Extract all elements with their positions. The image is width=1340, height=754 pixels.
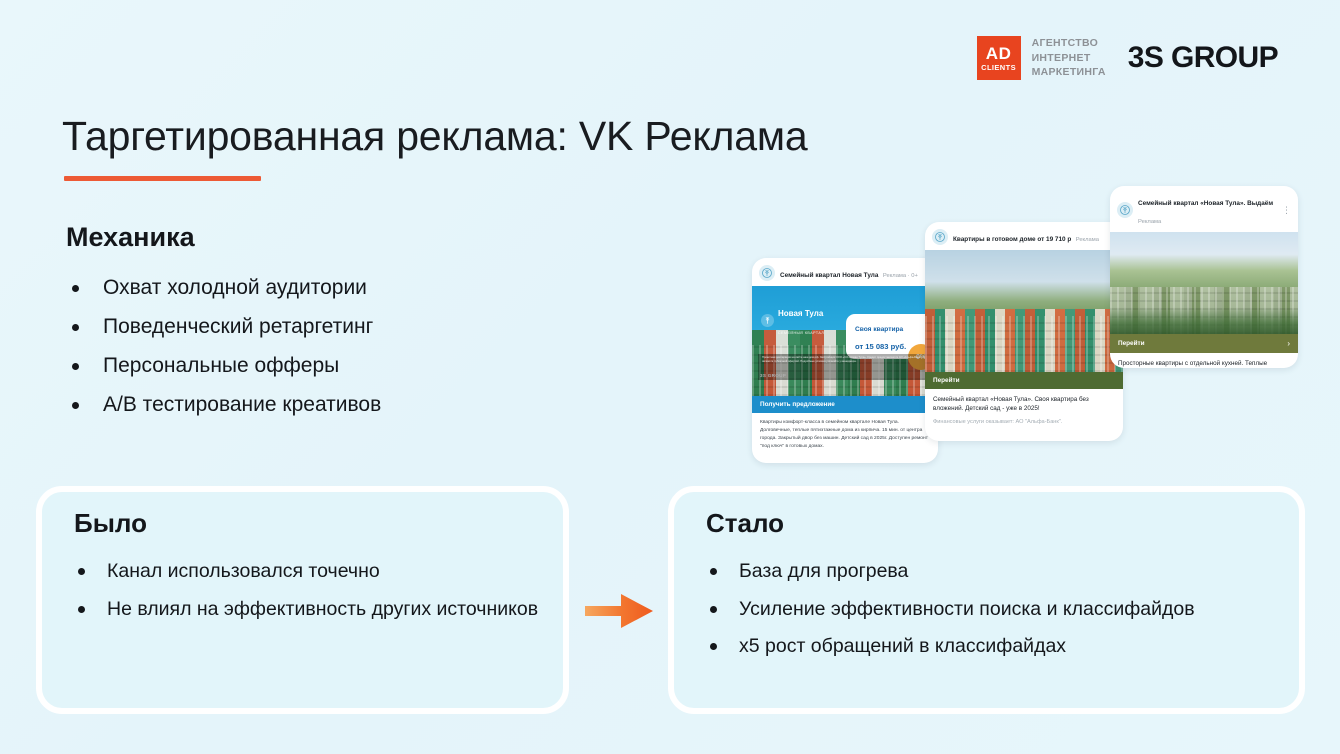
ad-card-1[interactable]: Семейный квартал Новая Тула Реклама · 0+… <box>752 258 938 463</box>
ad-card-1-brand-text: Новая Тула СЕМЕЙНЫЙ КВАРТАЛ <box>778 303 824 338</box>
bullet-dot-icon <box>710 606 717 613</box>
ad-card-1-brand: Новая Тула СЕМЕЙНЫЙ КВАРТАЛ <box>761 303 824 338</box>
tagline-line-1: АГЕНТСТВО <box>1032 36 1106 50</box>
advertiser-avatar-icon <box>932 229 948 245</box>
ad-card-1-description: Квартиры комфорт-класса в семейном кварт… <box>760 419 930 450</box>
after-card: Стало База для прогрева Усиление эффекти… <box>668 486 1305 714</box>
advertiser-avatar-icon <box>1117 202 1133 218</box>
ad-card-2-header: Квартиры в готовом доме от 19 710 р Рекл… <box>925 222 1123 250</box>
ad-card-3-header: Семейный квартал «Новая Тула». Выдаём Ре… <box>1110 186 1298 232</box>
after-heading: Стало <box>706 508 784 539</box>
mechanics-item-2: Поведенческий ретаргетинг <box>103 313 373 342</box>
tagline-line-2: ИНТЕРНЕТ <box>1032 51 1106 65</box>
adclients-tagline: АГЕНТСТВО ИНТЕРНЕТ МАРКЕТИНГА <box>1032 36 1106 79</box>
bullet-dot-icon <box>78 606 85 613</box>
list-item: Персональные офферы <box>72 352 542 381</box>
ad-card-1-header: Семейный квартал Новая Тула Реклама · 0+ <box>752 258 938 286</box>
ad-card-2-image <box>925 250 1123 372</box>
ad-card-3-body: Просторные квартиры с отдельной кухней. … <box>1110 353 1298 368</box>
before-item-2: Не влиял на эффективность других источни… <box>107 596 538 624</box>
bullet-dot-icon <box>78 568 85 575</box>
bullet-dot-icon <box>710 568 717 575</box>
after-item-3: x5 рост обращений в классифайдах <box>739 633 1066 661</box>
bullet-dot-icon <box>72 285 79 292</box>
ad-card-1-cta-button[interactable]: Получить предложение <box>752 396 938 413</box>
list-item: Поведенческий ретаргетинг <box>72 313 542 342</box>
ad-card-1-titles: Семейный квартал Новая Тула Реклама · 0+ <box>780 264 931 282</box>
list-item: База для прогрева <box>710 558 1279 586</box>
slide-root: AD CLIENTS АГЕНТСТВО ИНТЕРНЕТ МАРКЕТИНГА… <box>0 0 1340 754</box>
ad-card-2-titles: Квартиры в готовом доме от 19 710 р Рекл… <box>953 228 1116 246</box>
list-item: x5 рост обращений в классифайдах <box>710 633 1279 661</box>
before-list: Канал использовался точечно Не влиял на … <box>78 558 543 633</box>
ad-card-2-title: Квартиры в готовом доме от 19 710 р <box>953 236 1071 243</box>
ad-card-1-cta-label: Получить предложение <box>760 401 835 408</box>
adclients-logo: AD CLIENTS АГЕНТСТВО ИНТЕРНЕТ МАРКЕТИНГА <box>977 36 1106 80</box>
windows-layer <box>925 316 1123 372</box>
ad-card-2-fine-print: Финансовые услуги оказывает: АО "Альфа-Б… <box>933 418 1115 426</box>
ad-card-3-subtitle: Реклама <box>1138 219 1161 225</box>
ad-card-2-cta-button[interactable]: Перейти <box>925 372 1123 389</box>
title-underline <box>64 176 261 181</box>
before-heading: Было <box>74 508 147 539</box>
mechanics-item-4: A/B тестирование креативов <box>103 391 381 420</box>
ad-card-1-title: Семейный квартал Новая Тула <box>780 272 878 279</box>
adclients-mark: AD CLIENTS <box>977 36 1021 80</box>
ad-card-1-image: Новая Тула СЕМЕЙНЫЙ КВАРТАЛ Своя квартир… <box>752 286 938 396</box>
bullet-dot-icon <box>710 643 717 650</box>
ad-card-3-title: Семейный квартал «Новая Тула». Выдаём <box>1138 200 1273 207</box>
ad-card-1-legal: Проектная декларация на сайте наш.дом.рф… <box>758 354 932 380</box>
price-badge-line-2: от 15 083 руб. <box>855 342 906 351</box>
ad-card-1-brand-name: Новая Тула <box>778 309 823 318</box>
list-item: Усиление эффективности поиска и классифа… <box>710 596 1279 624</box>
greenery-layer <box>1110 307 1298 334</box>
chevron-right-icon: › <box>1287 339 1290 348</box>
ad-card-3-description: Просторные квартиры с отдельной кухней. … <box>1118 359 1290 368</box>
adclients-mark-bottom: CLIENTS <box>981 64 1016 72</box>
mechanics-heading: Механика <box>66 222 195 253</box>
ad-card-1-brand-sub: СЕМЕЙНЫЙ КВАРТАЛ <box>778 331 824 335</box>
bullet-dot-icon <box>72 363 79 370</box>
ad-card-2-subtitle: Реклама <box>1076 237 1099 243</box>
list-item: Охват холодной аудитории <box>72 274 542 303</box>
mechanics-item-3: Персональные офферы <box>103 352 339 381</box>
ad-card-2-cta-label: Перейти <box>933 377 960 384</box>
ad-card-3-image <box>1110 232 1298 334</box>
advertiser-avatar-icon <box>759 265 775 281</box>
after-item-1: База для прогрева <box>739 558 908 586</box>
tagline-line-3: МАРКЕТИНГА <box>1032 65 1106 79</box>
logo-bar: AD CLIENTS АГЕНТСТВО ИНТЕРНЕТ МАРКЕТИНГА… <box>977 36 1278 80</box>
ad-card-1-subtitle: Реклама · 0+ <box>883 273 918 279</box>
ad-card-2-body: Семейный квартал «Новая Тула». Своя квар… <box>925 389 1123 433</box>
after-item-2: Усиление эффективности поиска и классифа… <box>739 596 1195 624</box>
mechanics-item-1: Охват холодной аудитории <box>103 274 367 303</box>
tree-logo-icon <box>761 314 774 327</box>
ad-card-3-titles: Семейный квартал «Новая Тула». Выдаём Ре… <box>1138 192 1274 228</box>
transition-arrow <box>583 588 655 634</box>
bullet-dot-icon <box>72 324 79 331</box>
ad-card-3-cta-label: Перейти <box>1118 340 1145 347</box>
ad-card-3[interactable]: Семейный квартал «Новая Тула». Выдаём Ре… <box>1110 186 1298 368</box>
list-item: A/B тестирование креативов <box>72 391 542 420</box>
list-item: Не влиял на эффективность других источни… <box>78 596 543 624</box>
mechanics-list: Охват холодной аудитории Поведенческий р… <box>72 274 542 430</box>
price-badge-line-1: Своя квартира <box>855 326 903 333</box>
list-item: Канал использовался точечно <box>78 558 543 586</box>
page-title: Таргетированная реклама: VK Реклама <box>62 113 807 160</box>
ad-card-3-menu-icon[interactable]: ⋮ <box>1279 206 1291 215</box>
after-list: База для прогрева Усиление эффективности… <box>710 558 1279 671</box>
partner-logo: 3S GROUP <box>1128 41 1278 75</box>
ad-card-2-description: Семейный квартал «Новая Тула». Своя квар… <box>933 395 1115 414</box>
before-card: Было Канал использовался точечно Не влия… <box>36 486 569 714</box>
before-item-1: Канал использовался точечно <box>107 558 380 586</box>
bullet-dot-icon <box>72 402 79 409</box>
ad-card-3-cta-button[interactable]: Перейти › <box>1110 334 1298 353</box>
ad-card-1-body: Квартиры комфорт-класса в семейном кварт… <box>752 413 938 457</box>
ad-card-2[interactable]: Квартиры в готовом доме от 19 710 р Рекл… <box>925 222 1123 441</box>
adclients-mark-top: AD <box>986 45 1012 62</box>
